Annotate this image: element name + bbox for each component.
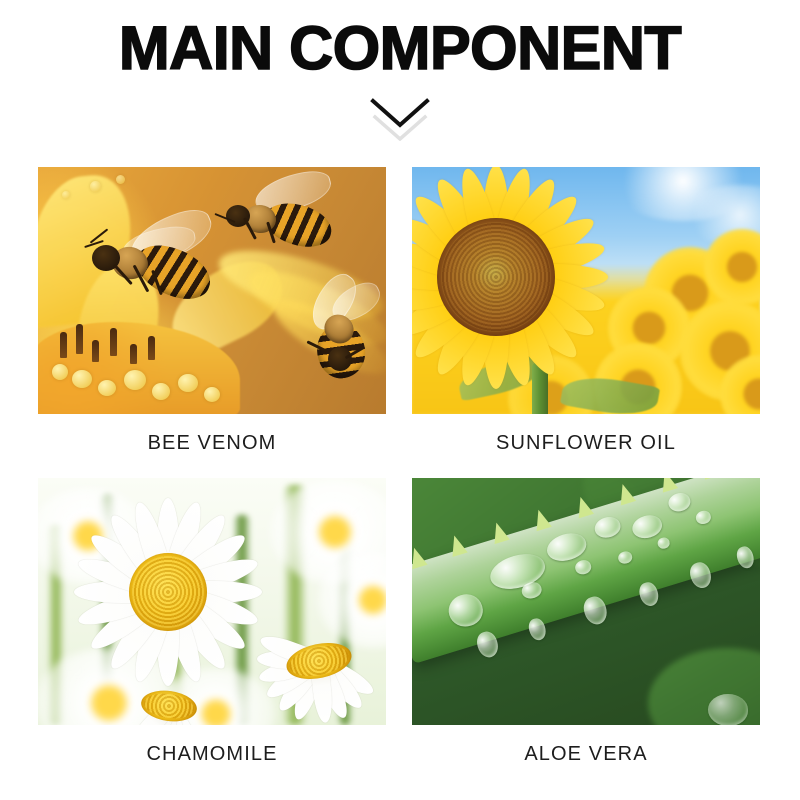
pollen-grain [178,374,198,392]
main-component-panel: MAIN COMPONENT [0,0,800,800]
page-title: MAIN COMPONENT [0,18,800,79]
chamomile-flower [244,596,386,725]
water-droplet [617,550,634,566]
chamomile-photo [38,478,386,725]
water-droplet [656,536,671,550]
stamen [110,328,117,356]
pollen-grain [98,380,116,396]
stamen [76,324,83,354]
pollen-grain [124,370,146,390]
bee [220,193,330,263]
water-droplet [592,514,623,541]
component-label-chamomile: CHAMOMILE [38,725,386,772]
water-droplet [445,590,487,631]
pollen-grain [90,181,101,192]
pollen-grain [72,370,92,388]
pollen-grain [152,383,170,400]
aloe-spike [657,478,678,493]
component-label-aloe-vera: ALOE VERA [412,725,760,772]
aloe-spike [699,478,720,480]
stamen [130,344,137,364]
sunflower-disc [437,218,555,336]
component-grid: BEE VENOM [38,167,760,772]
component-card-chamomile[interactable]: CHAMOMILE [38,478,386,772]
bee [296,293,386,385]
water-droplet [694,509,712,526]
double-chevron-down-icon [365,95,435,141]
divider [0,95,800,141]
chamomile-center [129,553,207,631]
sunflower-oil-photo [412,167,760,414]
bee-head [328,347,352,371]
component-card-bee-venom[interactable]: BEE VENOM [38,167,386,461]
pollen-grain [62,191,70,199]
chamomile-flower [94,646,244,725]
chevron-down-icon-bottom [375,117,425,139]
water-droplet [708,694,748,725]
water-droplet [630,512,665,542]
bee-venom-photo [38,167,386,414]
component-card-aloe-vera[interactable]: ALOE VERA [412,478,760,772]
pollen-grain [52,364,68,380]
component-label-sunflower-oil: SUNFLOWER OIL [412,414,760,461]
stamen [92,340,99,362]
pollen-grain [204,387,220,402]
foreground-sunflower [412,167,624,405]
bee [82,233,212,315]
header: MAIN COMPONENT [0,0,800,141]
stamen [60,332,67,358]
component-card-sunflower-oil[interactable]: SUNFLOWER OIL [412,167,760,461]
aloe-vera-photo [412,478,760,725]
water-droplet [666,490,692,514]
pollen-grain [116,175,125,184]
water-droplet [573,558,592,576]
stamen [148,336,155,360]
component-label-bee-venom: BEE VENOM [38,414,386,461]
